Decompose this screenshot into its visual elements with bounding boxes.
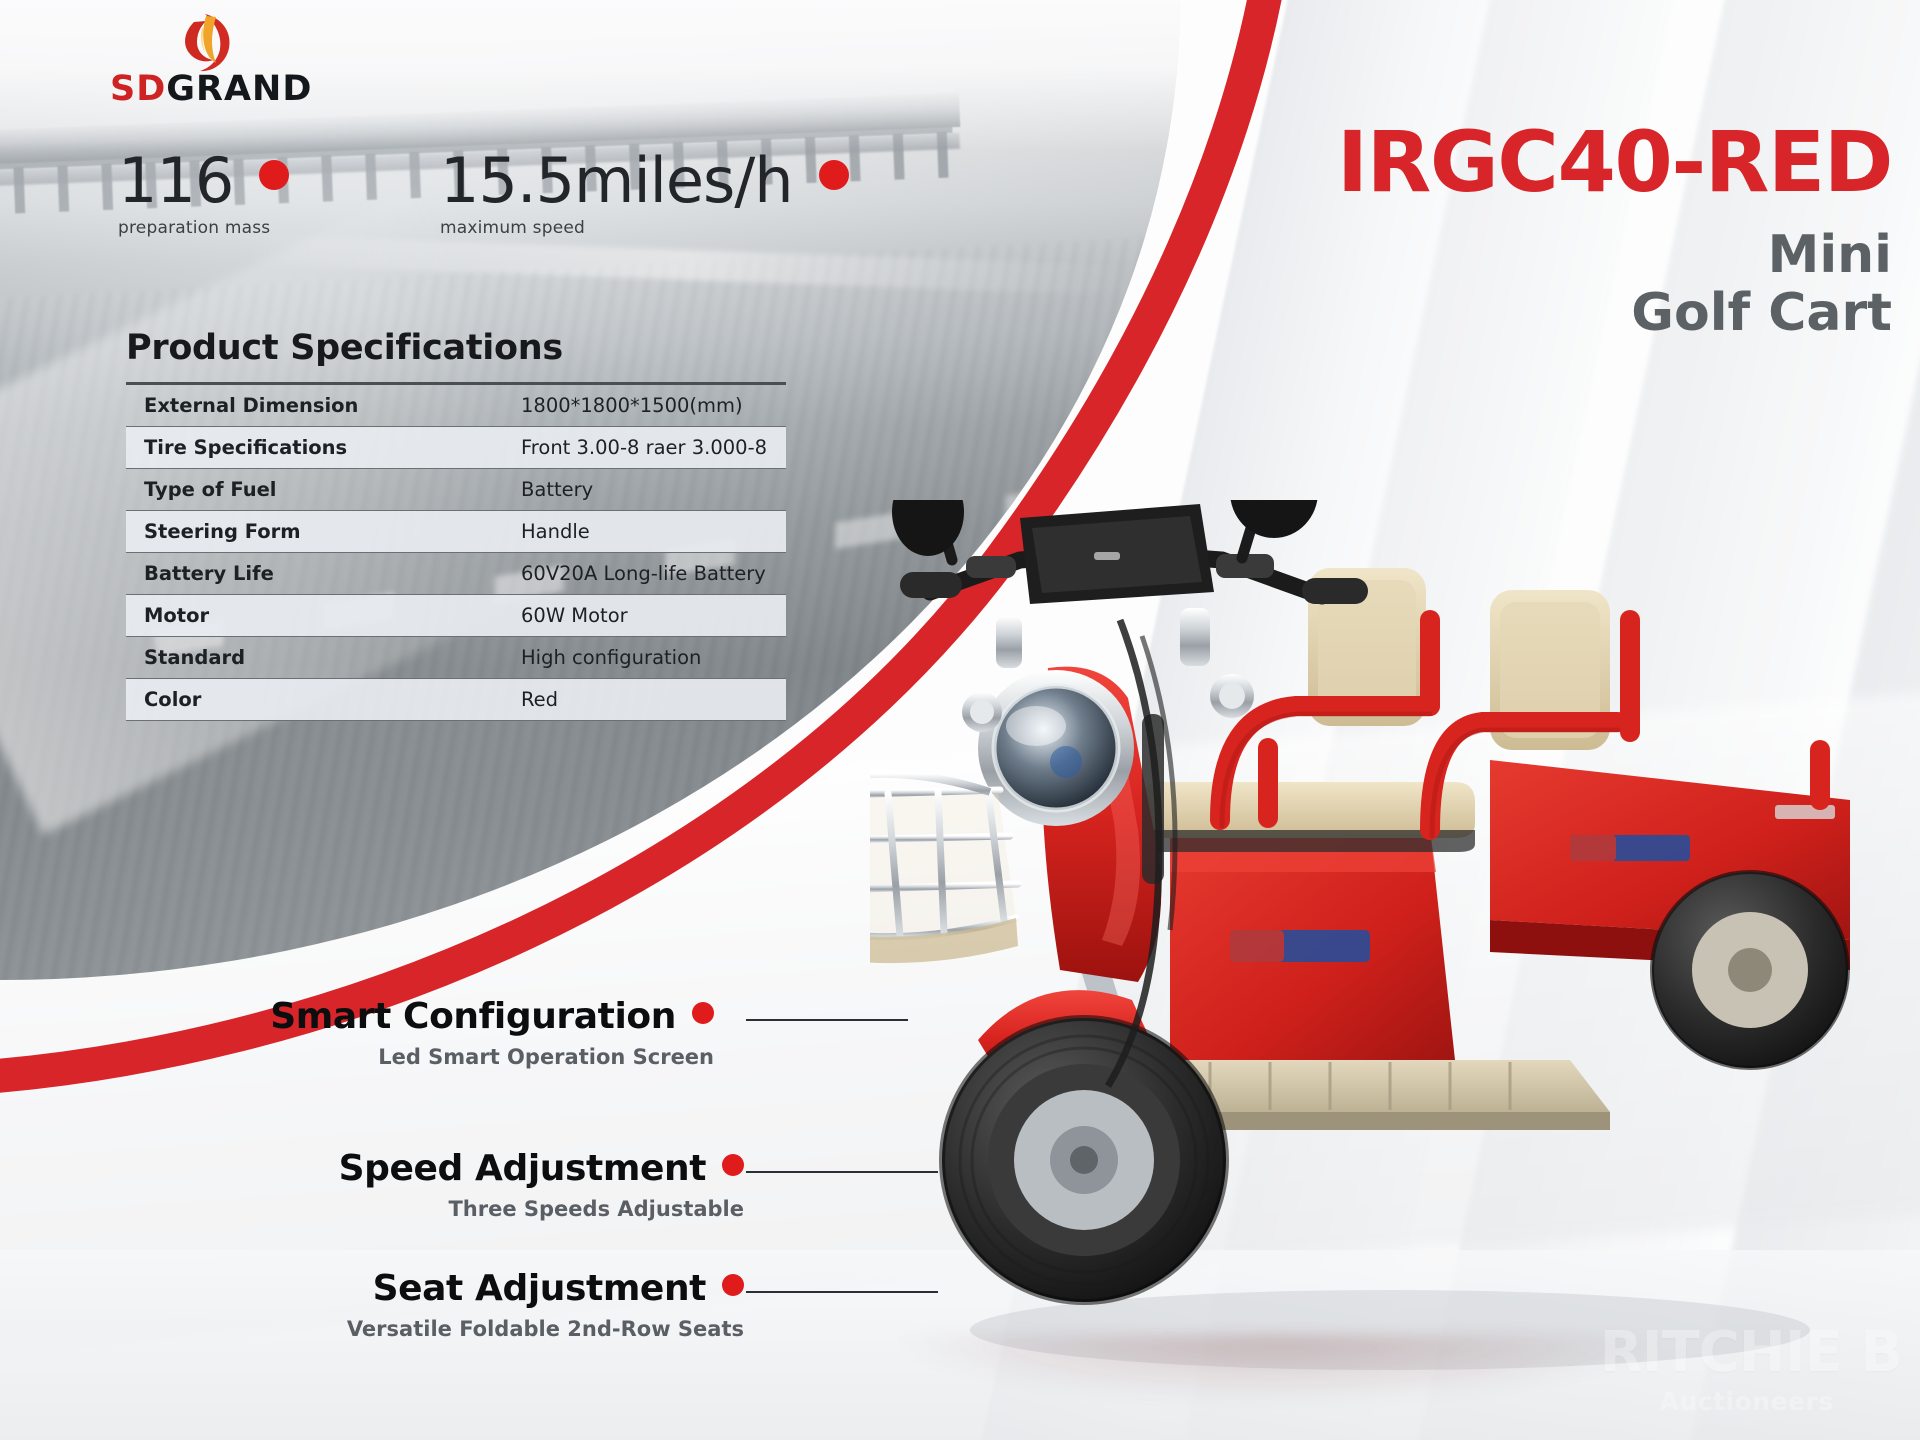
leader-line <box>746 1291 938 1293</box>
feature-callout-seat-adjustment: Seat Adjustment Versatile Foldable 2nd-R… <box>347 1268 744 1341</box>
spec-label: Battery Life <box>126 553 511 595</box>
spec-value: 60V20A Long-life Battery <box>511 553 786 595</box>
feature-heading: Smart Configuration <box>270 996 676 1037</box>
feature-heading-row: Seat Adjustment <box>347 1268 744 1309</box>
feature-heading: Speed Adjustment <box>339 1148 706 1189</box>
poster-canvas: SDGRAND 116 preparation mass 15.5miles/h… <box>0 0 1920 1440</box>
red-dot-icon <box>259 160 289 190</box>
specs-table: External Dimension 1800*1800*1500(mm) Ti… <box>126 385 786 721</box>
spec-value: Red <box>511 679 786 721</box>
feature-subtext: Three Speeds Adjustable <box>339 1197 744 1221</box>
table-row: Battery Life 60V20A Long-life Battery <box>126 553 786 595</box>
spec-label: Type of Fuel <box>126 469 511 511</box>
stat-caption: preparation mass <box>118 218 289 238</box>
spec-value: Battery <box>511 469 786 511</box>
subtitle-line-2: Golf Cart <box>1337 284 1892 342</box>
stat-value: 116 <box>118 144 233 217</box>
feature-callout-smart-configuration: Smart Configuration Led Smart Operation … <box>270 996 714 1069</box>
logo-text-sd: SD <box>110 69 166 109</box>
spec-label: Tire Specifications <box>126 427 511 469</box>
leader-line <box>746 1019 908 1021</box>
logo-wordmark: SDGRAND <box>110 72 350 107</box>
table-row: Type of Fuel Battery <box>126 469 786 511</box>
product-title-block: IRGC40-RED Mini Golf Cart <box>1337 120 1892 342</box>
logo-text-grand: GRAND <box>166 69 312 109</box>
spec-value: Handle <box>511 511 786 553</box>
table-row: Color Red <box>126 679 786 721</box>
leader-line <box>746 1171 938 1173</box>
stat-caption: maximum speed <box>440 218 849 238</box>
subtitle-line-1: Mini <box>1337 226 1892 284</box>
feature-heading-row: Speed Adjustment <box>339 1148 744 1189</box>
product-reflection <box>900 1335 1800 1430</box>
spec-label: Standard <box>126 637 511 679</box>
stat-value-row: 15.5miles/h <box>440 150 849 212</box>
feature-heading: Seat Adjustment <box>373 1268 706 1309</box>
red-dot-icon <box>722 1154 744 1176</box>
brand-logo: SDGRAND <box>110 10 350 115</box>
stat-value: 15.5miles/h <box>440 144 793 217</box>
table-row: Motor 60W Motor <box>126 595 786 637</box>
feature-subtext: Versatile Foldable 2nd-Row Seats <box>347 1317 744 1341</box>
spec-label: Color <box>126 679 511 721</box>
flame-swirl-icon <box>172 10 238 76</box>
spec-value: Front 3.00-8 raer 3.000-8 <box>511 427 786 469</box>
feature-callout-speed-adjustment: Speed Adjustment Three Speeds Adjustable <box>339 1148 744 1221</box>
table-row: Steering Form Handle <box>126 511 786 553</box>
red-dot-icon <box>819 160 849 190</box>
feature-heading-row: Smart Configuration <box>270 996 714 1037</box>
product-subtitle: Mini Golf Cart <box>1337 226 1892 342</box>
stat-maximum-speed: 15.5miles/h maximum speed <box>440 150 849 238</box>
page-title: IRGC40-RED <box>1337 120 1892 204</box>
spec-label: Motor <box>126 595 511 637</box>
spec-label: External Dimension <box>126 385 511 427</box>
product-image-mini-golf-cart <box>870 500 1880 1380</box>
stat-value-row: 116 <box>118 150 289 212</box>
table-row: Standard High configuration <box>126 637 786 679</box>
spec-label: Steering Form <box>126 511 511 553</box>
spec-value: High configuration <box>511 637 786 679</box>
table-row: Tire Specifications Front 3.00-8 raer 3.… <box>126 427 786 469</box>
specs-title: Product Specifications <box>126 328 786 368</box>
stat-preparation-mass: 116 preparation mass <box>118 150 289 238</box>
table-row: External Dimension 1800*1800*1500(mm) <box>126 385 786 427</box>
feature-subtext: Led Smart Operation Screen <box>270 1045 714 1069</box>
spec-value: 1800*1800*1500(mm) <box>511 385 786 427</box>
red-dot-icon <box>692 1002 714 1024</box>
red-dot-icon <box>722 1274 744 1296</box>
product-specifications: Product Specifications External Dimensio… <box>126 328 786 721</box>
spec-value: 60W Motor <box>511 595 786 637</box>
